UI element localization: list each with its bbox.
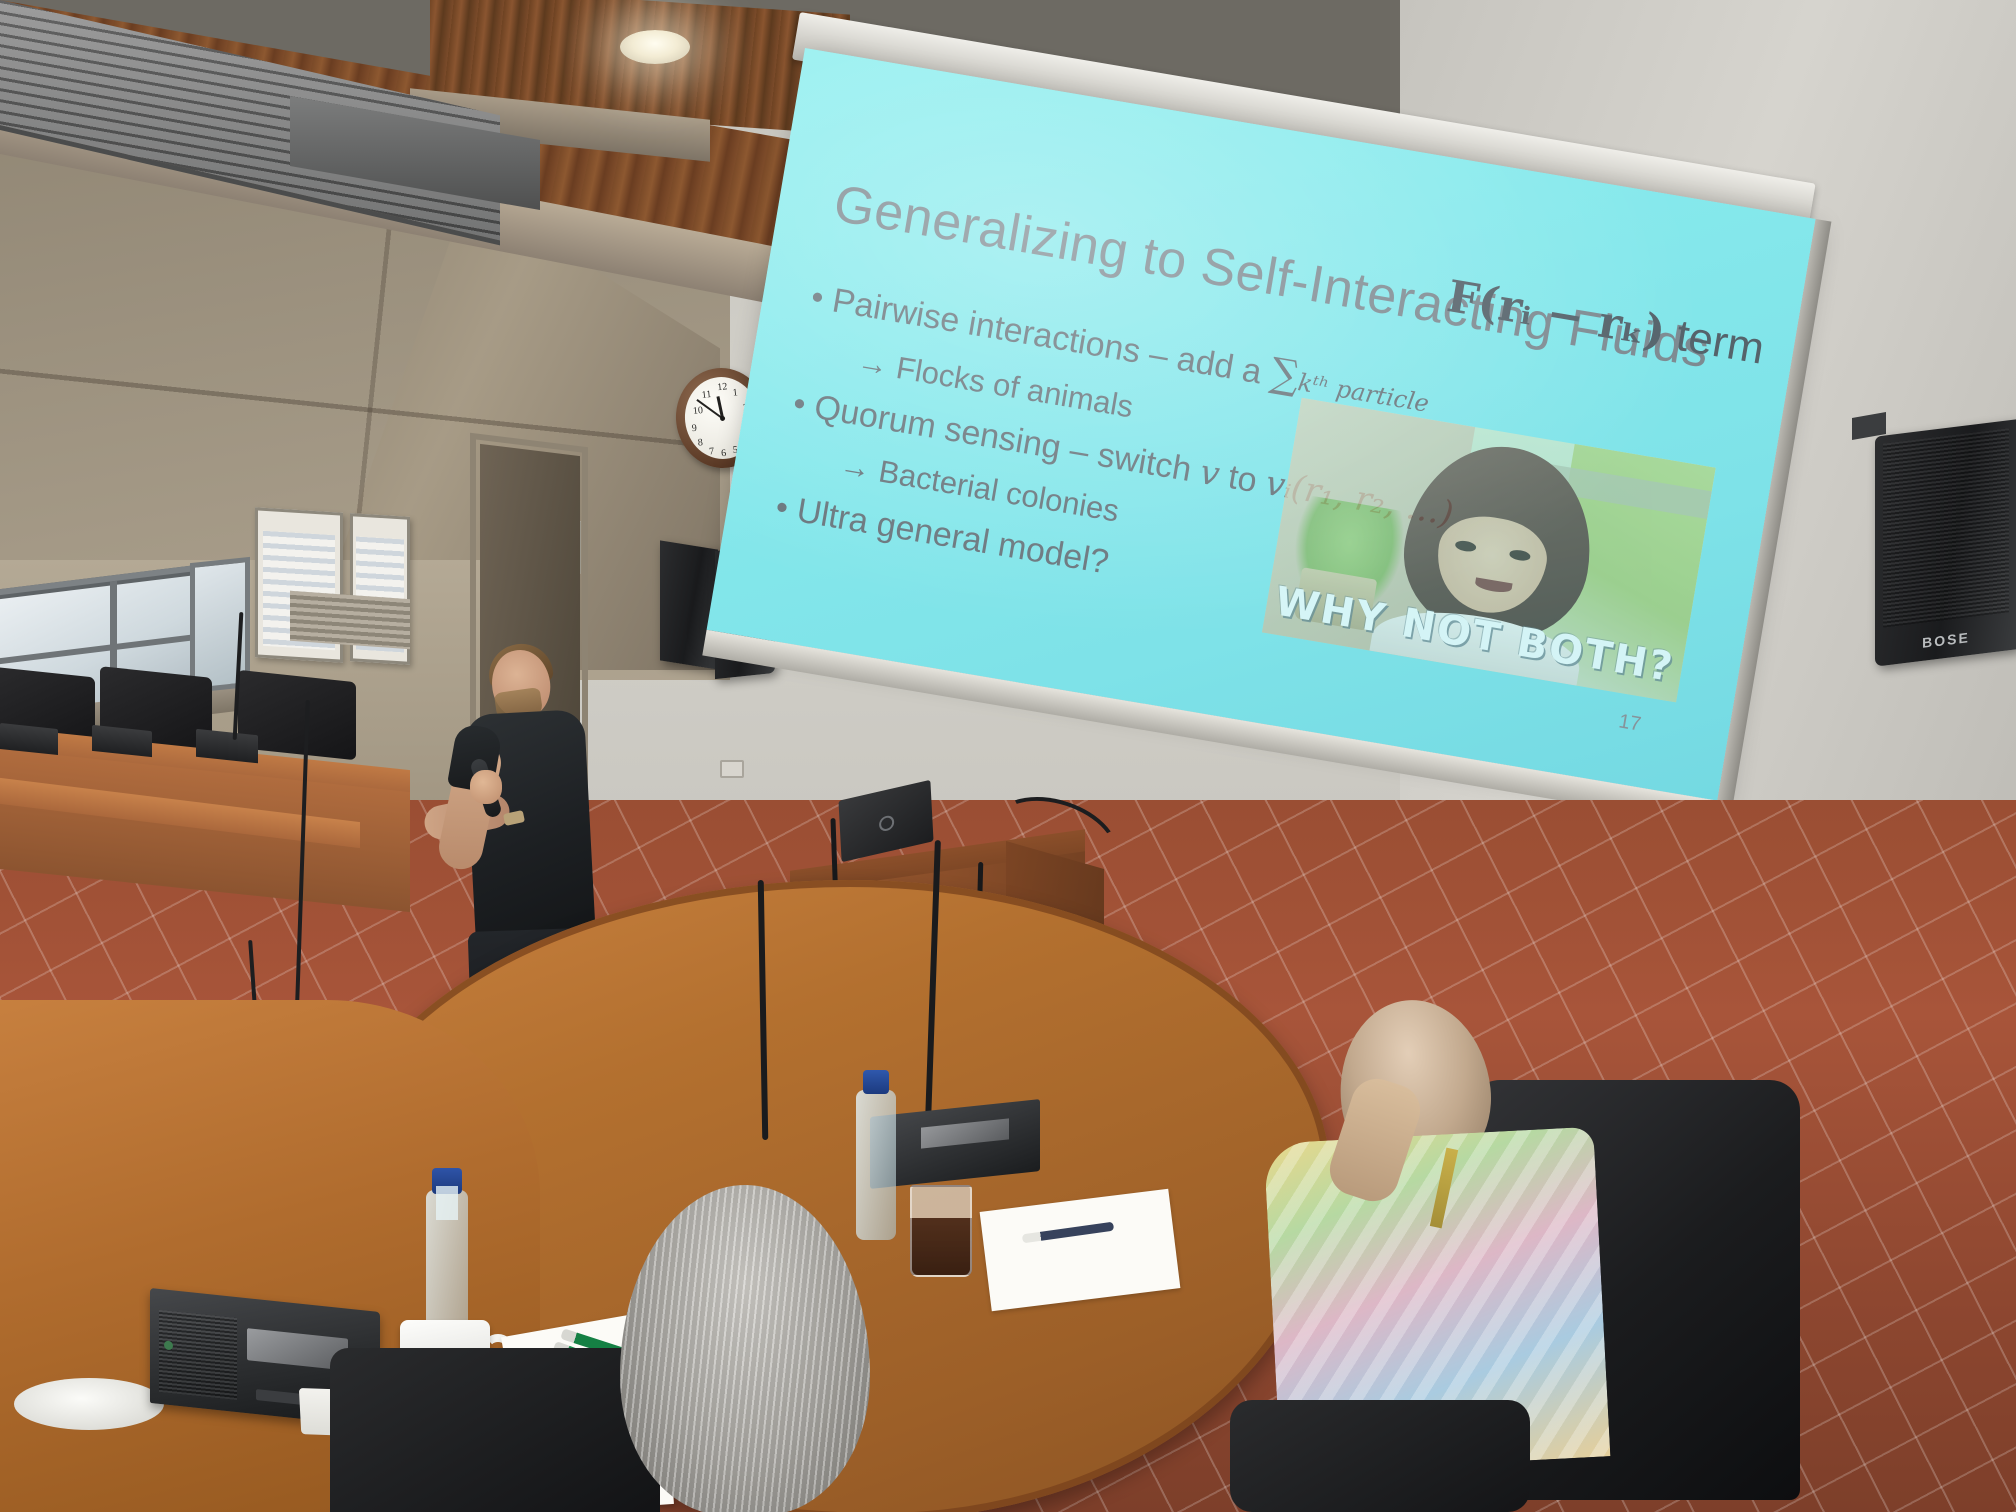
clock-numeral-6: 6	[721, 448, 727, 459]
audience-chair-foreground[interactable]	[330, 1348, 660, 1512]
console-panel	[921, 1118, 1009, 1149]
console-led-indicator	[164, 1340, 173, 1350]
ceiling-light	[620, 30, 690, 64]
velocity-symbol: v	[1197, 452, 1223, 495]
lecture-hall-scene: 12 1 2 3 4 5 6 7 8 9 10 11 BOSE Generali…	[0, 0, 2016, 1512]
presenter-hand	[470, 770, 502, 804]
clock-center-pin	[719, 415, 724, 420]
wall-louver	[290, 591, 410, 649]
wall-outlet	[720, 760, 744, 778]
bottle-neck	[436, 1186, 458, 1220]
notice-board-title-2	[356, 521, 404, 531]
why-not-both-meme-image: WHY NOT BOTH?	[1262, 398, 1716, 703]
slide-number: 17	[1617, 710, 1643, 736]
clock-numeral-12: 12	[717, 381, 728, 393]
side-plate	[14, 1378, 164, 1430]
clock-numeral-9: 9	[691, 422, 697, 433]
drinking-glass[interactable]	[910, 1185, 972, 1277]
speaker-right: BOSE	[1875, 419, 2016, 666]
bose-logo: BOSE	[1875, 623, 2016, 656]
audience-chair-armrest	[1230, 1400, 1530, 1512]
notice-board-title	[263, 515, 335, 526]
speaker-grill	[1883, 428, 2009, 627]
clock-numeral-7: 7	[709, 446, 715, 457]
console-speaker-grill	[159, 1310, 237, 1401]
clock-numeral-1: 1	[732, 388, 738, 399]
bullet-quorum-to: to	[1225, 458, 1259, 500]
clock-numeral-8: 8	[697, 437, 703, 448]
water-bottle-center[interactable]	[856, 1090, 896, 1240]
clock-numeral-11: 11	[701, 389, 712, 401]
clock-numeral-10: 10	[692, 405, 703, 417]
laptop-logo-icon	[879, 814, 895, 832]
bottle-cap-center	[863, 1070, 889, 1094]
